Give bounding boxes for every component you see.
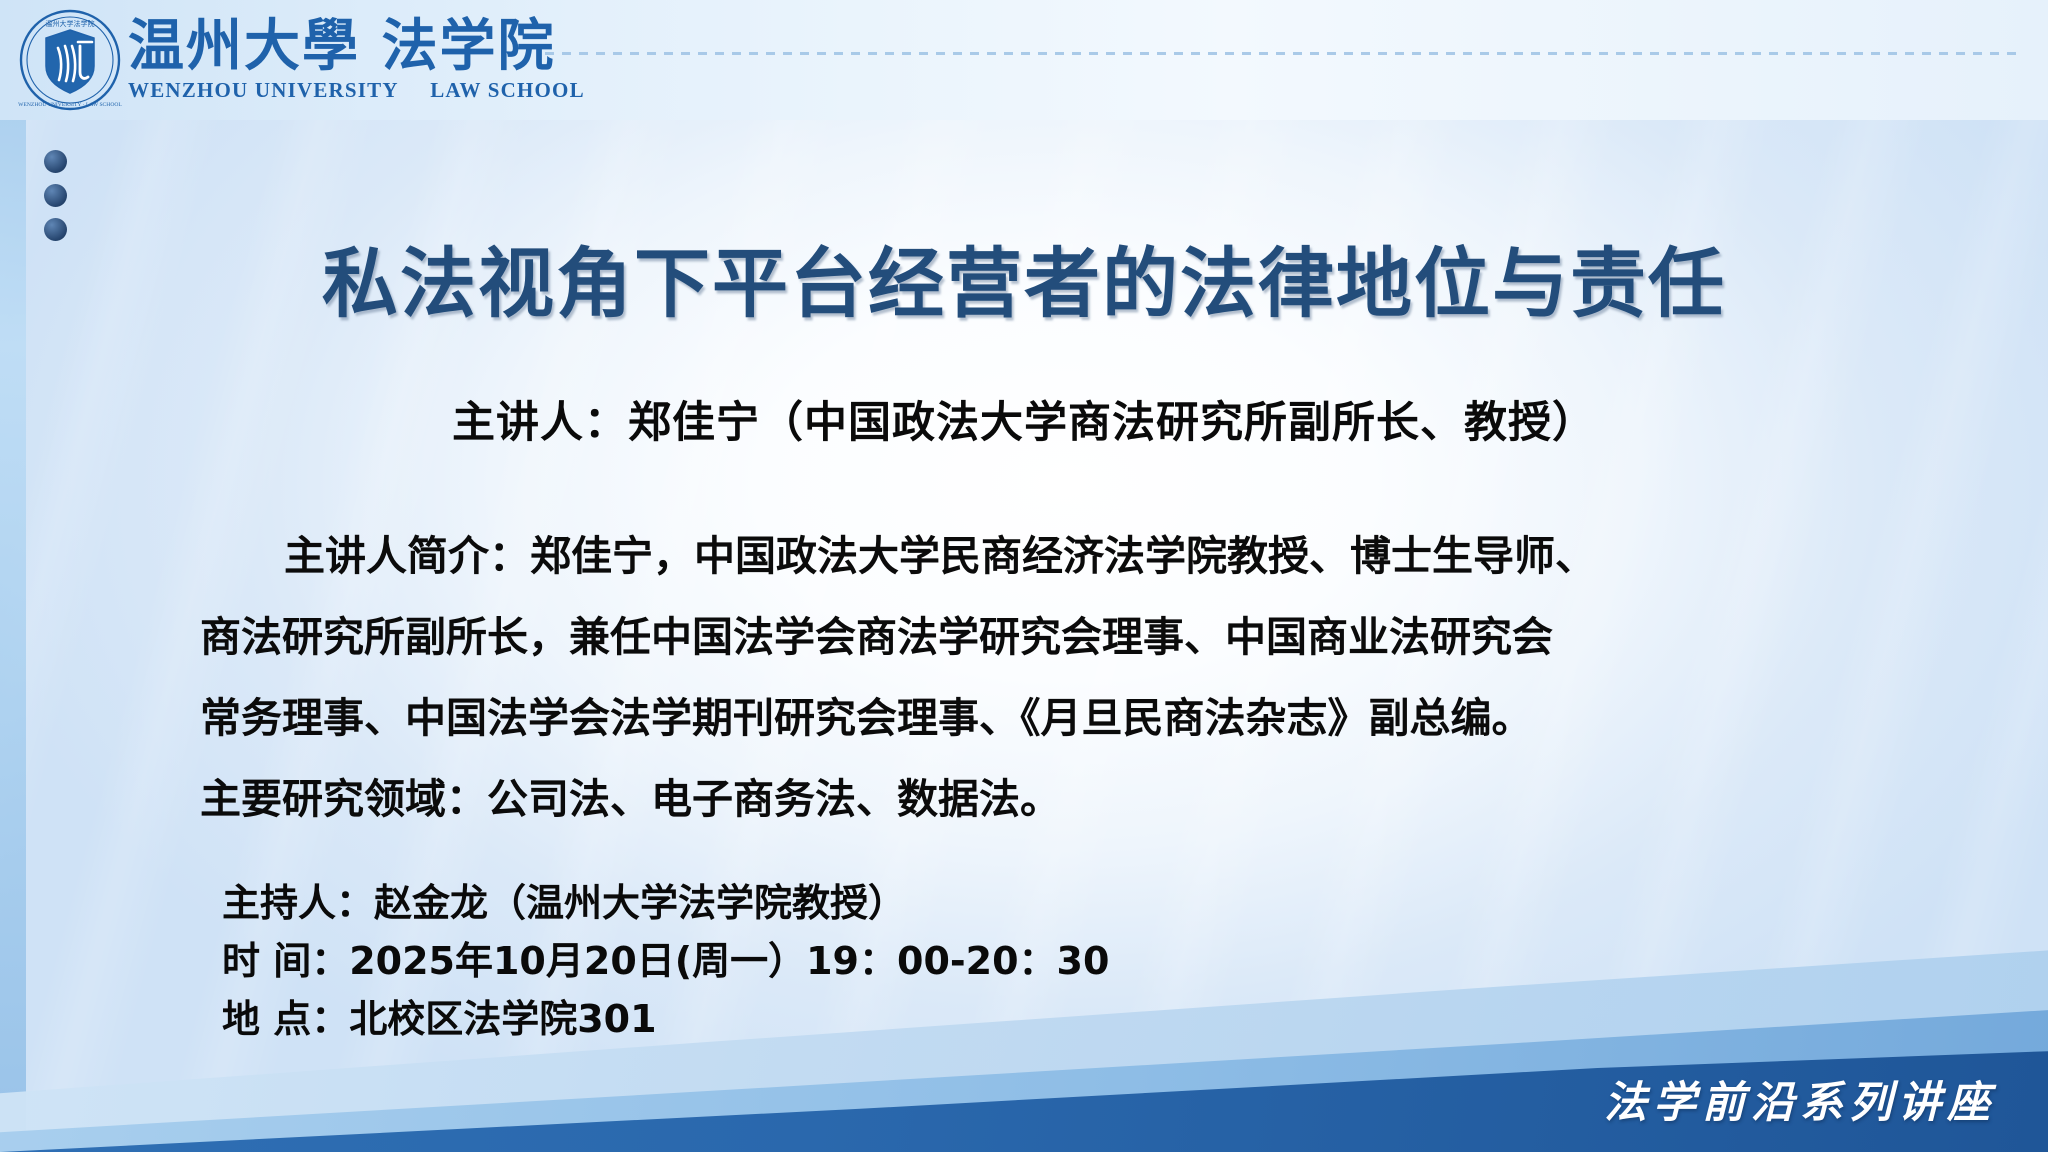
bio-line-4: 主要研究领域：公司法、电子商务法、数据法。 bbox=[200, 759, 1840, 840]
speaker-biography: 主讲人简介：郑佳宁，中国政法大学民商经济法学院教授、博士生导师、 商法研究所副所… bbox=[200, 516, 1840, 840]
school-logo: 温州大学法学院 WENZHOU UNIVERSITY · LAW SCHOOL … bbox=[18, 8, 585, 112]
event-details: 主持人：赵金龙（温州大学法学院教授） 时 间：2025年10月20日(周一）19… bbox=[222, 874, 1109, 1048]
bio-line-2: 商法研究所副所长，兼任中国法学会商法学研究会理事、中国商业法研究会 bbox=[200, 597, 1840, 678]
speaker-line: 主讲人：郑佳宁（中国政法大学商法研究所副所长、教授） bbox=[0, 388, 2048, 450]
page-title: 私法视角下平台经营者的法律地位与责任 bbox=[0, 222, 2048, 332]
svg-text:WENZHOU UNIVERSITY · LAW SCHOO: WENZHOU UNIVERSITY · LAW SCHOOL bbox=[18, 102, 122, 108]
university-crest-icon: 温州大学法学院 WENZHOU UNIVERSITY · LAW SCHOOL bbox=[18, 8, 122, 112]
svg-text:温州大学法学院: 温州大学法学院 bbox=[46, 19, 95, 28]
header-dashed-rule bbox=[545, 52, 2018, 55]
lecture-poster: 温州大学法学院 WENZHOU UNIVERSITY · LAW SCHOOL … bbox=[0, 0, 2048, 1152]
bio-line-1: 主讲人简介：郑佳宁，中国政法大学民商经济法学院教授、博士生导师、 bbox=[200, 516, 1840, 597]
poster-header: 温州大学法学院 WENZHOU UNIVERSITY · LAW SCHOOL … bbox=[0, 0, 2048, 120]
left-edge-accent bbox=[0, 0, 26, 1152]
logo-english-school: LAW SCHOOL bbox=[430, 78, 585, 102]
dot-2 bbox=[44, 184, 67, 207]
bio-line-3: 常务理事、中国法学会法学期刊研究会理事、《月旦民商法杂志》副总编。 bbox=[200, 678, 1840, 759]
logo-english-name: WENZHOU UNIVERSITY LAW SCHOOL bbox=[128, 80, 585, 101]
logo-wordmark: 温州大學 法学院 WENZHOU UNIVERSITY LAW SCHOOL bbox=[128, 19, 585, 101]
detail-time: 时 间：2025年10月20日(周一）19：00-20：30 bbox=[222, 932, 1109, 990]
logo-chinese-name: 温州大學 法学院 bbox=[128, 19, 585, 75]
detail-host: 主持人：赵金龙（温州大学法学院教授） bbox=[222, 874, 1109, 932]
series-ribbon-label: 法学前沿系列讲座 bbox=[1604, 1068, 1996, 1130]
logo-english-university: WENZHOU UNIVERSITY bbox=[128, 78, 398, 102]
dot-1 bbox=[44, 150, 67, 173]
